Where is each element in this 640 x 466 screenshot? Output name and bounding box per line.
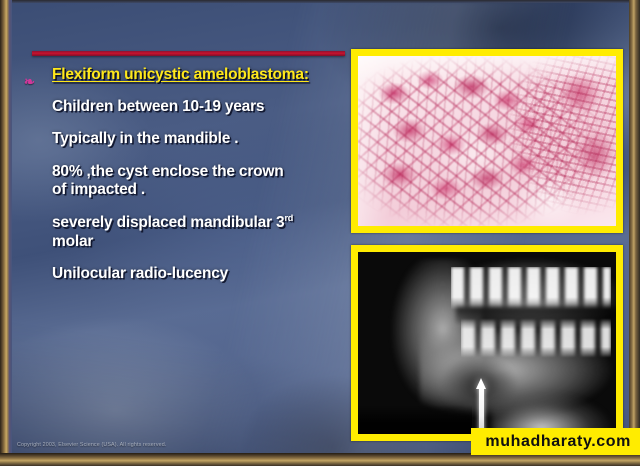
title-divider-rule (32, 51, 345, 56)
histology-edge-highlight (358, 56, 616, 226)
title-bullet-row: ❧ Flexiform unicystic ameloblastoma: (20, 66, 360, 84)
bullet-line-4-tail: molar (52, 233, 93, 250)
bullet-icon: ❧ (24, 76, 35, 87)
bullet-line-4-text: severely displaced mandibular 3 (52, 214, 284, 231)
radiograph-field (358, 252, 616, 434)
upper-dental-arch (451, 267, 611, 311)
radiograph-figure-frame (351, 245, 623, 441)
pointer-marker-icon (479, 387, 484, 434)
copyright-notice: Copyright 2003, Elsevier Science (USA). … (17, 442, 166, 448)
lower-dark-band (358, 405, 472, 434)
slide-title: Flexiform unicystic ameloblastoma: (52, 66, 309, 83)
bullet-line-2: Typically in the mandible . (20, 130, 360, 148)
basal-bone-highlight (492, 379, 616, 434)
bullet-line-4: severely displaced mandibular 3rd molar (20, 213, 360, 251)
content-text-column: ❧ Flexiform unicystic ameloblastoma: Chi… (20, 66, 360, 283)
lower-dental-arch (461, 318, 611, 358)
slide-canvas: ❧ Flexiform unicystic ameloblastoma: Chi… (0, 0, 640, 466)
histology-micrograph (358, 56, 616, 226)
panoramic-radiograph (358, 252, 616, 434)
bullet-line-3: 80% ,the cyst enclose the crown of impac… (20, 163, 360, 200)
ordinal-superscript: rd (284, 213, 293, 223)
bullet-line-5: Unilocular radio-lucency (20, 265, 360, 283)
bullet-line-1: Children between 10-19 years (20, 98, 360, 116)
histology-figure-frame (351, 49, 623, 233)
slide-border-left (0, 0, 12, 466)
watermark-label: muhadharaty.com (485, 433, 631, 451)
slide-border-top (0, 0, 640, 3)
slide-border-right (629, 0, 640, 466)
site-watermark: muhadharaty.com (471, 428, 640, 455)
